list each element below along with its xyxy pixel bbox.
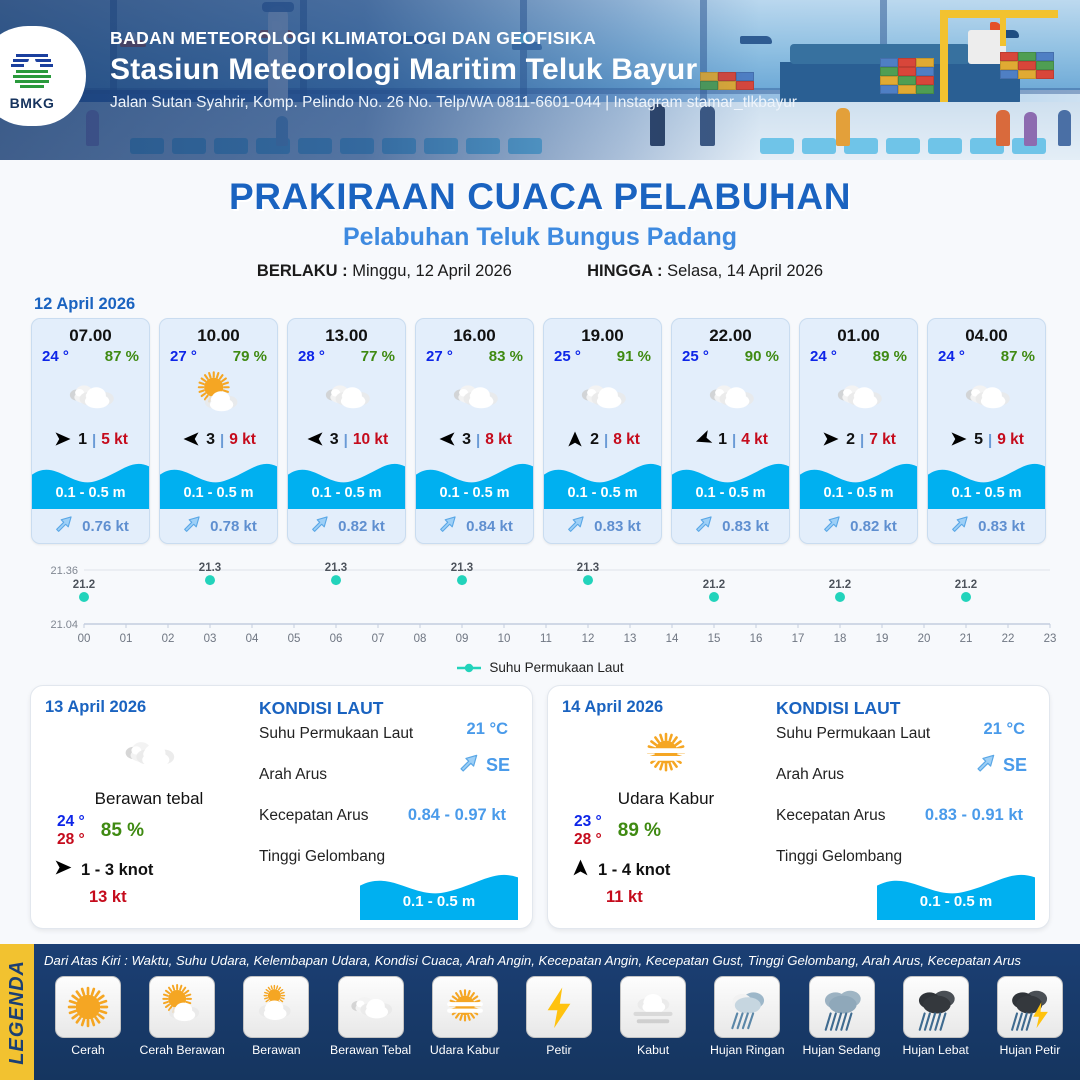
card-separator: | [732,432,736,449]
hourly-cards-row: 07.00 24 ° 87 % 1 | 5 kt 0.1 - 0.5 m [0,318,1080,544]
header-station-name: Stasiun Meteorologi Maritim Teluk Bayur [110,53,797,87]
kabut-icon [620,976,686,1038]
current-direction-arrow-icon [436,512,460,541]
card-wind-speed: 8 kt [485,431,512,449]
card-wave-block: 0.1 - 0.5 m [928,457,1045,509]
daily-wind-range: 1 - 4 knot [598,861,670,880]
current-direction-arrow-icon [52,512,76,541]
svg-text:03: 03 [204,633,217,645]
svg-text:16: 16 [750,633,763,645]
legenda-item-label: Hujan Ringan [703,1043,791,1057]
cerah-berawan-icon [160,369,277,423]
card-temperature: 24 ° [810,348,837,365]
card-wind-degree: 5 [974,431,983,449]
card-wind-degree: 1 [718,431,727,449]
card-humidity: 90 % [745,348,779,365]
sea-condition-block: KONDISI LAUT Suhu Permukaan Laut Arah Ar… [253,698,518,918]
card-time: 13.00 [288,319,405,348]
card-time: 01.00 [800,319,917,348]
hourly-card: 13.00 28 ° 77 % 3 | 10 kt 0.1 - 0.5 m [287,318,406,544]
svg-text:12: 12 [582,633,595,645]
legenda-item-label: Cerah Berawan [138,1043,226,1057]
legenda-side-label: LEGENDA [6,960,29,1065]
svg-text:21.04: 21.04 [50,619,78,631]
card-current-speed: 0.78 kt [210,518,257,535]
card-humidity: 79 % [233,348,267,365]
sst-chart: 21.3621.04000102030405060708091011121314… [22,556,1058,656]
card-time: 04.00 [928,319,1045,348]
header-contact-line: Jalan Sutan Syahrir, Komp. Pelindo No. 2… [110,94,797,112]
daily-condition: Berawan tebal [45,789,253,809]
header-org-line: BADAN METEOROLOGI KLIMATOLOGI DAN GEOFIS… [110,28,797,49]
card-time: 16.00 [416,319,533,348]
page-header: BMKG BADAN METEOROLOGI KLIMATOLOGI DAN G… [0,0,1080,160]
card-temperature: 25 ° [554,348,581,365]
legenda-item-label: Kabut [609,1043,697,1057]
sea-current-direction: SE [973,750,1027,781]
daily-humidity: 89 % [618,820,661,842]
legenda-item-label: Petir [515,1043,603,1057]
current-direction-arrow-icon [692,512,716,541]
svg-text:22: 22 [1002,633,1015,645]
card-humidity: 83 % [489,348,523,365]
daily-wind-direction-arrow-icon [53,857,74,884]
wind-direction-arrow-icon [53,429,73,452]
card-wave-block: 0.1 - 0.5 m [288,457,405,509]
svg-text:02: 02 [162,633,175,645]
card-humidity: 87 % [1001,348,1035,365]
svg-text:21.2: 21.2 [955,579,977,591]
title-block: PRAKIRAAN CUACA PELABUHAN Pelabuhan Telu… [0,176,1080,281]
card-wind-degree: 3 [462,431,471,449]
card-wave-height: 0.1 - 0.5 m [288,485,405,501]
sea-current-speed-value: 0.83 - 0.91 kt [925,806,1023,825]
hingga-label: HINGGA : [587,262,662,280]
wind-direction-arrow-icon [693,429,713,452]
sea-condition-title: KONDISI LAUT [259,698,518,719]
current-direction-arrow-icon [564,512,588,541]
svg-text:08: 08 [414,633,427,645]
daily-panels-row: 13 April 2026 Berawan tebal 24 ° 28 ° 85… [0,675,1080,929]
legenda-item: Hujan Sedang [798,976,886,1057]
card-wind-speed: 7 kt [869,431,896,449]
legenda-side-tab: LEGENDA [0,944,34,1080]
card-separator: | [476,432,480,449]
legenda-item: Hujan Ringan [703,976,791,1057]
card-wind-degree: 2 [590,431,599,449]
daily-gust: 13 kt [45,888,253,907]
card-wave-height: 0.1 - 0.5 m [416,485,533,501]
daily-forecast-panel: 14 April 2026 Udara Kabur 23 ° 28 ° 89 %… [547,685,1050,929]
daily-temp-max: 28 ° [57,831,85,849]
legenda-item-label: Berawan [232,1043,320,1057]
card-wave-height: 0.1 - 0.5 m [544,485,661,501]
svg-text:21.3: 21.3 [199,562,221,574]
svg-text:21.2: 21.2 [703,579,725,591]
legenda-item: Hujan Petir [986,976,1074,1057]
svg-text:01: 01 [120,633,133,645]
card-humidity: 77 % [361,348,395,365]
wind-direction-arrow-icon [565,429,585,452]
berawan-tebal-icon [416,369,533,423]
svg-text:04: 04 [246,633,259,645]
wind-direction-arrow-icon [949,429,969,452]
svg-text:20: 20 [918,633,931,645]
card-separator: | [344,432,348,449]
sst-legend-label: Suhu Permukaan Laut [489,660,623,675]
card-wind-speed: 8 kt [613,431,640,449]
legenda-item-label: Cerah [44,1043,132,1057]
svg-text:14: 14 [666,633,679,645]
card-temperature: 28 ° [298,348,325,365]
svg-text:13: 13 [624,633,637,645]
sea-current-speed-value: 0.84 - 0.97 kt [408,806,506,825]
daily-forecast-panel: 13 April 2026 Berawan tebal 24 ° 28 ° 85… [30,685,533,929]
current-direction-arrow-icon [180,512,204,541]
card-wave-height: 0.1 - 0.5 m [672,485,789,501]
cerah-berawan-icon [149,976,215,1038]
legenda-item-label: Hujan Lebat [892,1043,980,1057]
daily-gust: 11 kt [562,888,770,907]
card-humidity: 87 % [105,348,139,365]
hourly-card: 19.00 25 ° 91 % 2 | 8 kt 0.1 - 0.5 m [543,318,662,544]
current-direction-arrow-icon [973,750,999,781]
svg-text:18: 18 [834,633,847,645]
sea-condition-title: KONDISI LAUT [776,698,1035,719]
sea-wave-block: 0.1 - 0.5 m [877,862,1035,920]
page-title: PRAKIRAAN CUACA PELABUHAN [0,176,1080,218]
svg-text:21: 21 [960,633,973,645]
card-wind-degree: 3 [330,431,339,449]
card-wind-speed: 9 kt [229,431,256,449]
svg-text:21.2: 21.2 [829,579,851,591]
card-temperature: 24 ° [938,348,965,365]
svg-text:07: 07 [372,633,385,645]
card-wave-height: 0.1 - 0.5 m [800,485,917,501]
hourly-card: 16.00 27 ° 83 % 3 | 8 kt 0.1 - 0.5 m [415,318,534,544]
legenda-item-label: Hujan Sedang [798,1043,886,1057]
card-wave-height: 0.1 - 0.5 m [160,485,277,501]
daily-left-column: 13 April 2026 Berawan tebal 24 ° 28 ° 85… [45,698,253,918]
card-current-speed: 0.83 kt [722,518,769,535]
hujan-lebat-icon [903,976,969,1038]
card-separator: | [860,432,864,449]
legenda-item: Berawan [232,976,320,1057]
legenda-item: Hujan Lebat [892,976,980,1057]
card-wave-block: 0.1 - 0.5 m [672,457,789,509]
svg-text:23: 23 [1044,633,1057,645]
container-stack-b [1000,52,1056,79]
wind-direction-arrow-icon [181,429,201,452]
current-direction-arrow-icon [820,512,844,541]
daily-wind-direction-arrow-icon [570,857,591,884]
card-wind-speed: 9 kt [997,431,1024,449]
card-temperature: 25 ° [682,348,709,365]
card-temperature: 24 ° [42,348,69,365]
svg-text:21.3: 21.3 [451,562,473,574]
svg-text:19: 19 [876,633,889,645]
sea-current-direction-value: SE [486,755,510,776]
legenda-item: Cerah [44,976,132,1057]
berlaku-value: Minggu, 12 April 2026 [352,262,512,280]
header-text-block: BADAN METEOROLOGI KLIMATOLOGI DAN GEOFIS… [110,28,797,112]
hourly-card: 22.00 25 ° 90 % 1 | 4 kt 0.1 - 0.5 m [671,318,790,544]
sea-current-direction: SE [456,750,510,781]
card-wind-speed: 4 kt [741,431,768,449]
legenda-item: Petir [515,976,603,1057]
bmkg-logo-text: BMKG [10,95,55,111]
card-wind-speed: 5 kt [101,431,128,449]
daily-date: 14 April 2026 [562,698,770,717]
legenda-item-label: Berawan Tebal [327,1043,415,1057]
hourly-date: 12 April 2026 [34,295,1080,314]
bmkg-logo-mark [4,42,60,94]
card-time: 07.00 [32,319,149,348]
card-current-speed: 0.84 kt [466,518,513,535]
berawan-icon [243,976,309,1038]
legenda-item: Cerah Berawan [138,976,226,1057]
card-separator: | [988,432,992,449]
svg-text:21.3: 21.3 [325,562,347,574]
card-current-speed: 0.76 kt [82,518,129,535]
card-humidity: 91 % [617,348,651,365]
hourly-card: 10.00 27 ° 79 % 3 | 9 kt 0.1 - 0.5 m [159,318,278,544]
card-wind-degree: 3 [206,431,215,449]
sea-wave-block: 0.1 - 0.5 m [360,862,518,920]
svg-text:09: 09 [456,633,469,645]
wind-direction-arrow-icon [437,429,457,452]
chart-legend: Suhu Permukaan Laut [0,660,1080,675]
current-direction-arrow-icon [948,512,972,541]
wind-direction-arrow-icon [821,429,841,452]
card-separator: | [220,432,224,449]
svg-text:21.3: 21.3 [577,562,599,574]
card-wind-degree: 1 [78,431,87,449]
berawan-tebal-icon [45,721,253,787]
sea-wave-value: 0.1 - 0.5 m [360,893,518,910]
legenda-item: Berawan Tebal [327,976,415,1057]
berawan-tebal-icon [800,369,917,423]
daily-wind-range: 1 - 3 knot [81,861,153,880]
validity-line: BERLAKU : Minggu, 12 April 2026 HINGGA :… [0,262,1080,281]
card-current-speed: 0.83 kt [978,518,1025,535]
udara-kabur-icon [432,976,498,1038]
hingga-value: Selasa, 14 April 2026 [667,262,823,280]
svg-text:21.36: 21.36 [50,565,78,577]
hourly-card: 07.00 24 ° 87 % 1 | 5 kt 0.1 - 0.5 m [31,318,150,544]
card-time: 19.00 [544,319,661,348]
berlaku-label: BERLAKU : [257,262,348,280]
card-wave-block: 0.1 - 0.5 m [544,457,661,509]
sea-current-direction-value: SE [1003,755,1027,776]
card-humidity: 89 % [873,348,907,365]
card-temperature: 27 ° [170,348,197,365]
hujan-ringan-icon [714,976,780,1038]
hourly-card: 01.00 24 ° 89 % 2 | 7 kt 0.1 - 0.5 m [799,318,918,544]
berawan-tebal-icon [928,369,1045,423]
legenda-item-label: Hujan Petir [986,1043,1074,1057]
berawan-tebal-icon [544,369,661,423]
sst-legend-marker [456,662,482,674]
sea-sst-value: 21 °C [467,720,508,739]
legenda-item-label: Udara Kabur [421,1043,509,1057]
card-wave-block: 0.1 - 0.5 m [416,457,533,509]
wind-direction-arrow-icon [305,429,325,452]
udara-kabur-icon [562,721,770,787]
legenda-note: Dari Atas Kiri : Waktu, Suhu Udara, Kele… [44,953,1074,968]
svg-text:06: 06 [330,633,343,645]
card-current-speed: 0.82 kt [338,518,385,535]
container-stack-a [880,58,936,94]
berawan-tebal-icon [672,369,789,423]
card-separator: | [92,432,96,449]
sea-condition-block: KONDISI LAUT Suhu Permukaan Laut Arah Ar… [770,698,1035,918]
legenda-bar: LEGENDA Dari Atas Kiri : Waktu, Suhu Uda… [0,944,1080,1080]
berawan-tebal-icon [32,369,149,423]
daily-condition: Udara Kabur [562,789,770,809]
legenda-item: Udara Kabur [421,976,509,1057]
card-current-speed: 0.83 kt [594,518,641,535]
page-subtitle: Pelabuhan Teluk Bungus Padang [0,223,1080,252]
daily-temp-min: 23 ° [574,813,602,831]
svg-text:15: 15 [708,633,721,645]
card-wind-degree: 2 [846,431,855,449]
daily-date: 13 April 2026 [45,698,253,717]
card-time: 22.00 [672,319,789,348]
hujan-sedang-icon [809,976,875,1038]
sea-wave-value: 0.1 - 0.5 m [877,893,1035,910]
legenda-item: Kabut [609,976,697,1057]
svg-text:10: 10 [498,633,511,645]
card-wave-block: 0.1 - 0.5 m [160,457,277,509]
hourly-card: 04.00 24 ° 87 % 5 | 9 kt 0.1 - 0.5 m [927,318,1046,544]
current-direction-arrow-icon [308,512,332,541]
card-current-speed: 0.82 kt [850,518,897,535]
daily-humidity: 85 % [101,820,144,842]
card-temperature: 27 ° [426,348,453,365]
card-wave-height: 0.1 - 0.5 m [928,485,1045,501]
svg-text:17: 17 [792,633,805,645]
petir-icon [526,976,592,1038]
card-wave-block: 0.1 - 0.5 m [800,457,917,509]
current-direction-arrow-icon [456,750,482,781]
card-wind-speed: 10 kt [353,431,388,449]
sea-sst-value: 21 °C [984,720,1025,739]
svg-text:05: 05 [288,633,301,645]
berawan-tebal-icon [288,369,405,423]
hujan-petir-icon [997,976,1063,1038]
svg-text:00: 00 [78,633,91,645]
card-wave-height: 0.1 - 0.5 m [32,485,149,501]
cerah-icon [55,976,121,1038]
daily-left-column: 14 April 2026 Udara Kabur 23 ° 28 ° 89 %… [562,698,770,918]
legenda-items: Cerah Cerah Berawan Berawan Berawan Teba… [44,976,1074,1057]
card-time: 10.00 [160,319,277,348]
card-separator: | [604,432,608,449]
daily-temp-max: 28 ° [574,831,602,849]
card-wave-block: 0.1 - 0.5 m [32,457,149,509]
berawan-tebal-icon [338,976,404,1038]
svg-text:21.2: 21.2 [73,579,95,591]
svg-text:11: 11 [540,633,552,645]
daily-temp-min: 24 ° [57,813,85,831]
